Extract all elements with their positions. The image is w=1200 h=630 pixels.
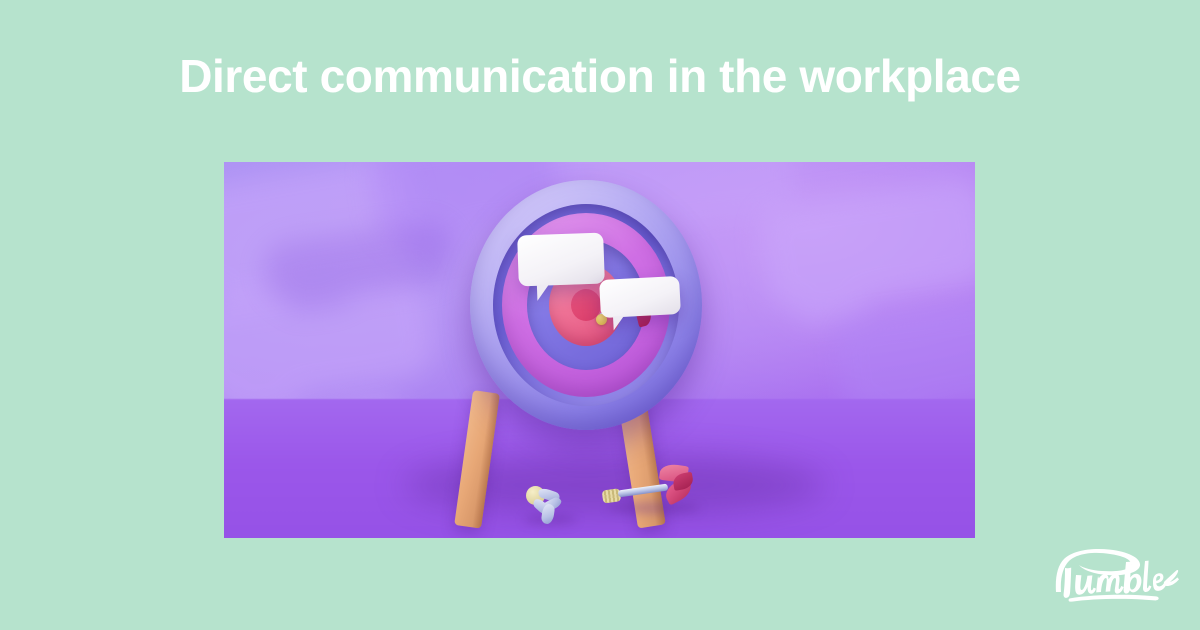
speech-bubble-tail — [537, 284, 550, 300]
social-share-banner: Direct communication in the workplace — [0, 0, 1200, 630]
speech-bubble-tail — [613, 316, 625, 331]
dart-shaft — [618, 484, 668, 498]
speech-bubble-primary — [517, 233, 605, 287]
hero-illustration — [224, 162, 975, 538]
page-title: Direct communication in the workplace — [0, 48, 1200, 104]
fallen-dart-left — [524, 484, 572, 524]
speech-bubble-secondary — [599, 276, 681, 318]
pumble-logo[interactable] — [1052, 548, 1184, 602]
